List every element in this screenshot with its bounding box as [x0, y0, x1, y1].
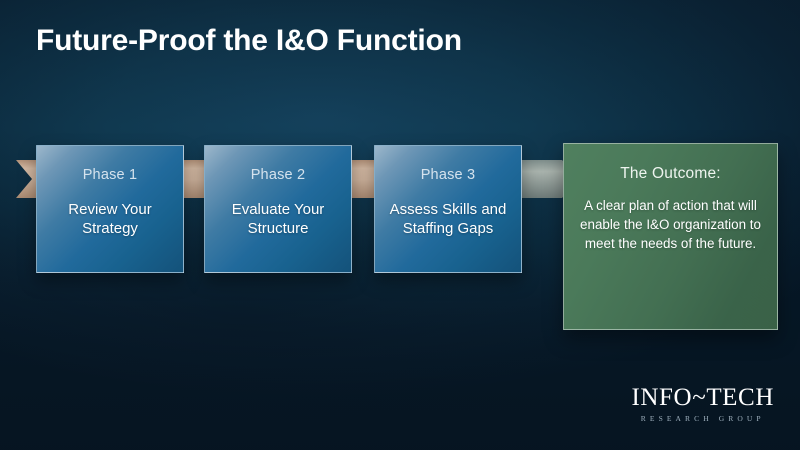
phase-2-title: Evaluate Your Structure [205, 200, 351, 240]
outcome-heading: The Outcome: [620, 166, 721, 182]
brand-logo-tagline: RESEARCH GROUP [631, 415, 774, 423]
outcome-body: A clear plan of action that will enable … [577, 196, 764, 253]
outcome-box[interactable]: The Outcome: A clear plan of action that… [563, 143, 778, 330]
phase-box-2[interactable]: Phase 2 Evaluate Your Structure [204, 145, 352, 273]
phase-box-3[interactable]: Phase 3 Assess Skills and Staffing Gaps [374, 145, 522, 273]
phase-box-1[interactable]: Phase 1 Review Your Strategy [36, 145, 184, 273]
brand-logo: INFO~TECH RESEARCH GROUP [631, 385, 774, 423]
phase-2-label: Phase 2 [251, 168, 306, 183]
slide-canvas: Future-Proof the I&O Function [0, 0, 800, 450]
phase-1-label: Phase 1 [83, 168, 138, 183]
phase-3-label: Phase 3 [421, 168, 476, 183]
phase-1-title: Review Your Strategy [37, 200, 183, 240]
phase-3-title: Assess Skills and Staffing Gaps [375, 200, 521, 240]
brand-logo-name: INFO~TECH [631, 385, 774, 410]
page-title: Future-Proof the I&O Function [36, 24, 462, 58]
